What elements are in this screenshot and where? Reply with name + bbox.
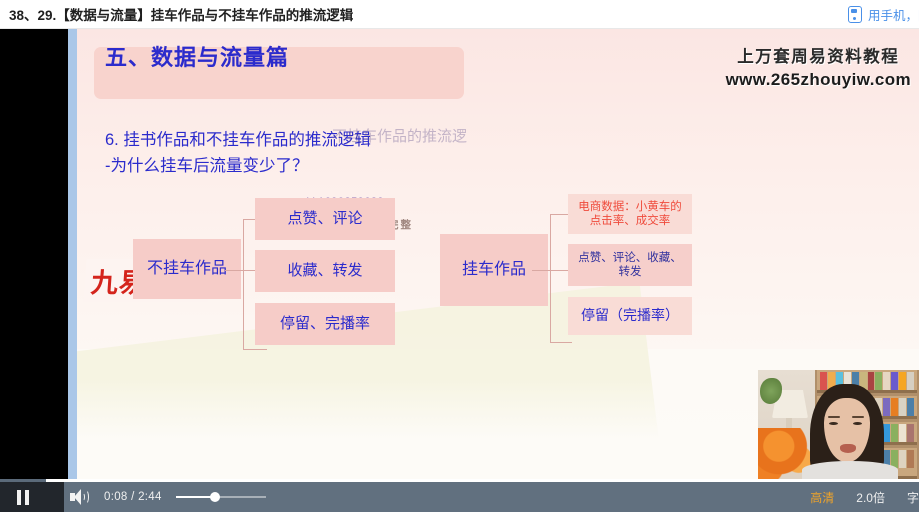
playback-speed-button[interactable]: 2.0倍	[856, 489, 885, 506]
left-flow-stub-3	[243, 349, 267, 350]
header-right-group: 用手机，随时	[848, 0, 919, 29]
time-separator: /	[131, 491, 135, 503]
left-flow-child-node: 停留、完播率	[255, 303, 395, 345]
pause-button[interactable]	[0, 482, 46, 512]
right-flow-child-node: 电商数据：小黄车的点击率、成交率	[568, 194, 692, 234]
presenter-webcam-inset	[758, 370, 919, 479]
left-flow-child-node: 收藏、转发	[255, 250, 395, 292]
right-flow-child-node: 点赞、评论、收藏、转发	[568, 244, 692, 286]
left-flow-parent-stub	[225, 270, 245, 271]
pause-icon-bar	[17, 490, 21, 505]
slide-subtitle-line-2: -为什么挂车后流量变少了？	[105, 152, 309, 176]
quality-button[interactable]: 高清	[810, 489, 834, 506]
page-title: 38、29.【数据与流量】挂车作品与不挂车作品的推流逻辑	[9, 4, 353, 24]
presenter-eyebrow-left	[828, 416, 840, 418]
volume-icon	[70, 489, 88, 505]
right-flow-connector-spine	[550, 214, 551, 342]
left-flow-child-node: 点赞、评论	[255, 198, 395, 240]
right-flow-parent-stub	[532, 270, 552, 271]
volume-button[interactable]	[62, 482, 96, 512]
slide-canvas: 五、数据与流量篇 6. 挂书作品和不挂车作品的推流逻辑 -为什么挂车后流量变少了…	[77, 29, 919, 479]
current-time: 0:08	[104, 491, 128, 503]
duration: 2:44	[138, 491, 162, 503]
right-flow-child-node: 停留（完播率）	[568, 297, 692, 335]
left-flow-connector-spine	[243, 219, 244, 349]
mobile-promo-text[interactable]: 用手机，随时	[868, 5, 919, 24]
volume-slider-knob[interactable]	[210, 492, 220, 502]
presenter-shoulders	[802, 461, 898, 479]
left-flow-parent-node: 不挂车作品	[133, 239, 241, 299]
slide-title-text: 五、数据与流量篇	[105, 40, 289, 72]
presenter-eyebrow-right	[852, 416, 864, 418]
presenter-mouth	[840, 444, 856, 453]
phone-icon	[848, 6, 862, 23]
volume-slider[interactable]	[176, 482, 266, 512]
page-header: 38、29.【数据与流量】挂车作品与不挂车作品的推流逻辑 用手机，随时	[0, 0, 919, 29]
presenter-eye-right	[853, 422, 862, 425]
presenter-eye-left	[829, 422, 838, 425]
time-display: 0:08 / 2:44	[104, 491, 162, 503]
pause-icon-bar	[25, 490, 29, 505]
slide-subtitle-line-1: 6. 挂书作品和不挂车作品的推流逻辑	[105, 126, 371, 150]
right-flow-stub-3	[550, 342, 572, 343]
letterbox-left	[0, 29, 68, 479]
video-stage[interactable]: 五、数据与流量篇 6. 挂书作品和不挂车作品的推流逻辑 -为什么挂车后流量变少了…	[0, 29, 919, 479]
controls-right-group: 高清 2.0倍 字幕	[810, 482, 919, 512]
subtitle-button[interactable]: 字幕	[907, 489, 919, 506]
video-player-page: 38、29.【数据与流量】挂车作品与不挂车作品的推流逻辑 用手机，随时 五、数据…	[0, 0, 919, 512]
player-controls-bar: 0:08 / 2:44 高清 2.0倍 字幕	[0, 482, 919, 512]
slide-left-accent-strip	[68, 29, 77, 479]
